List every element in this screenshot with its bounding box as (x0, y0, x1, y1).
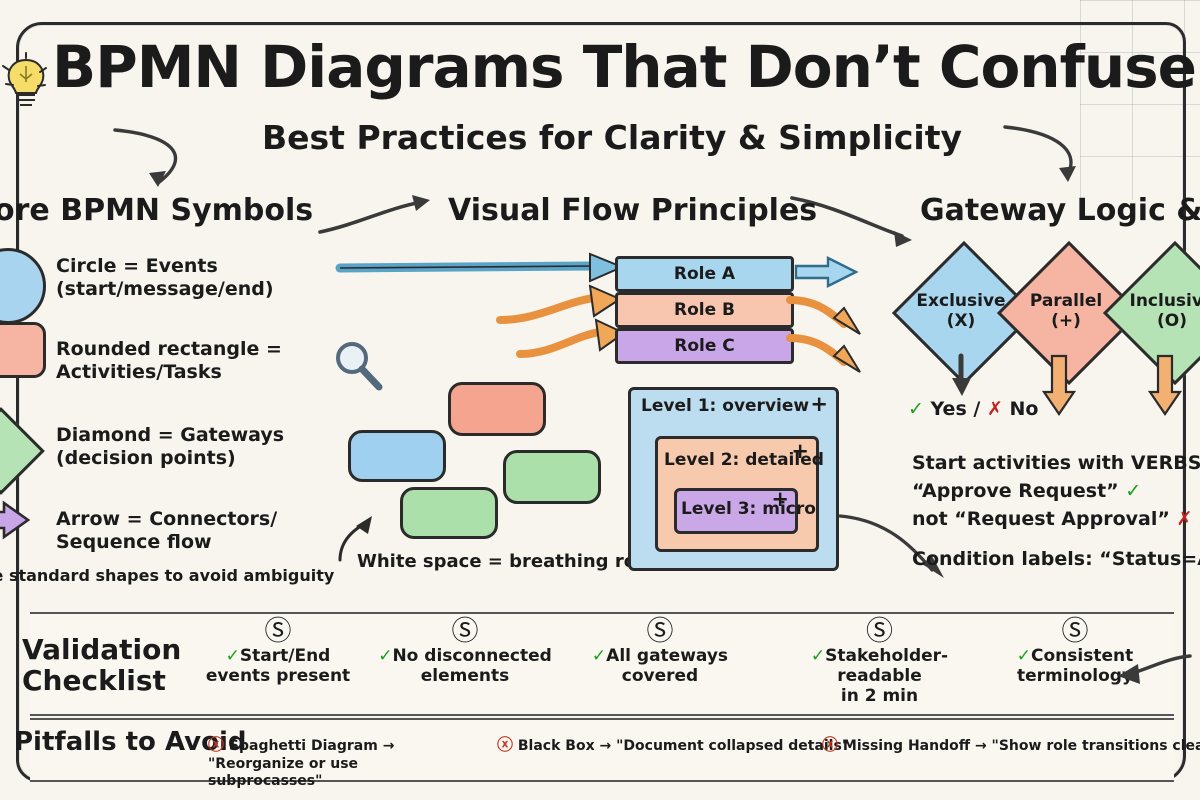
validation-item-5-line1: Consistent (1031, 646, 1133, 666)
validation-item-3-text: ✓All gateways covered (592, 646, 728, 686)
bad-cross-icon: ✗ (1176, 508, 1192, 530)
validation-item-2: Ⓢ ✓No disconnected elements (375, 618, 555, 686)
symbol-gateways-line1: Diamond = Gateways (56, 424, 284, 446)
validation-item-1-text: ✓Start/End events present (206, 646, 350, 686)
validation-item-4-line1: Stakeholder-readable (825, 646, 948, 686)
pitfall-3-name: Missing Handoff (843, 738, 970, 754)
validation-item-2-line2: elements (421, 666, 509, 686)
pitfall-item-3: ⓧ Missing Handoff → "Show role transitio… (822, 735, 1200, 756)
verbs-bad-example: not “Request Approval” ✗ (912, 506, 1192, 532)
gateway-inclusive-symbol: (O) (1157, 311, 1187, 331)
right-column-heading: Gateway Logic & Labels (920, 193, 1200, 228)
page-title: BPMN Diagrams That Don’t Confuse (52, 38, 1152, 96)
floating-task-salmon (448, 382, 546, 436)
symbol-label-connectors: Arrow = Connectors/ Sequence flow (56, 508, 277, 554)
x-circle-icon: ⓧ (822, 735, 838, 754)
validation-title: Validation Checklist (22, 634, 181, 697)
white-space-note: White space = breathing room (357, 551, 667, 572)
role-bar-c: Role C (615, 328, 794, 364)
floating-task-blue (348, 430, 446, 482)
verbs-heading: Start activities with VERBS: (912, 450, 1200, 476)
floating-task-green-2 (503, 450, 601, 504)
symbol-shape-rounded-rectangle (0, 322, 46, 378)
validation-item-4: Ⓢ ✓Stakeholder-readable in 2 min (772, 618, 987, 706)
gateway-parallel-name: Parallel (1030, 291, 1102, 311)
level-3-label: Level 3: micro (681, 499, 816, 519)
role-bar-c-label: Role C (674, 336, 735, 356)
left-column-heading: Core BPMN Symbols (0, 193, 313, 228)
gateway-parallel-symbol: (+) (1051, 311, 1081, 331)
check-mark-icon: ✓ (378, 646, 392, 666)
pitfall-item-2: ⓧ Black Box → "Document collapsed detail… (497, 735, 797, 756)
pitfall-3-fix: "Show role transitions clearly" (992, 738, 1200, 754)
check-circle-icon: Ⓢ (772, 618, 987, 645)
symbol-activities-line1: Rounded rectangle = (56, 338, 282, 360)
validation-item-1-line1: Start/End (240, 646, 330, 666)
validation-item-2-text: ✓No disconnected elements (378, 646, 552, 686)
verbs-bad-text: not “Request Approval” (912, 508, 1170, 530)
role-bar-a-label: Role A (674, 264, 735, 284)
symbol-connectors-line1: Arrow = Connectors/ (56, 508, 277, 530)
validation-title-line2: Checklist (22, 664, 166, 697)
role-bar-b: Role B (615, 292, 794, 328)
pitfall-1-arrow: → (383, 738, 395, 754)
gateway-inclusive-name: Inclusive (1130, 291, 1200, 311)
infographic-canvas: BPMN Diagrams That Don’t Confuse Best Pr… (0, 0, 1200, 800)
symbol-connectors-line2: Sequence flow (56, 531, 212, 553)
role-bar-a: Role A (615, 256, 794, 292)
level-2-label: Level 2: detailed (664, 450, 824, 470)
validation-item-5-text: ✓Consistent terminology (1017, 646, 1133, 686)
symbol-label-activities: Rounded rectangle = Activities/Tasks (56, 338, 282, 384)
pitfall-2-arrow: → (600, 738, 612, 754)
level-1-label: Level 1: overview (641, 396, 809, 416)
gateway-exclusive-name: Exclusive (916, 291, 1005, 311)
no-cross-icon: ✗ (987, 398, 1003, 420)
validation-item-1: Ⓢ ✓Start/End events present (188, 618, 368, 686)
symbol-gateways-line2: (decision points) (56, 447, 236, 469)
left-column-footnote: Use standard shapes to avoid ambiguity (0, 566, 334, 585)
gateway-inclusive-label: Inclusive (O) (1107, 292, 1200, 331)
verbs-good-text: “Approve Request” (912, 480, 1119, 502)
pitfall-1-fix: "Reorganize or use subprocasses" (208, 756, 358, 790)
no-label: No (1010, 398, 1039, 420)
validation-item-5-line2: terminology (1017, 666, 1133, 686)
x-circle-icon: ⓧ (497, 735, 513, 754)
page-subtitle: Best Practices for Clarity & Simplicity (262, 118, 1162, 157)
yes-check-icon: ✓ (908, 398, 924, 420)
check-mark-icon: ✓ (226, 646, 240, 666)
symbol-events-line1: Circle = Events (56, 255, 218, 277)
level-1-plus-marker: + (810, 394, 828, 415)
condition-labels-note: Condition labels: “Status=Approved” (912, 546, 1200, 572)
symbol-activities-line2: Activities/Tasks (56, 361, 222, 383)
check-circle-icon: Ⓢ (570, 618, 750, 645)
check-circle-icon: Ⓢ (375, 618, 555, 645)
check-circle-icon: Ⓢ (188, 618, 368, 645)
pitfall-3-arrow: → (975, 738, 987, 754)
pitfall-2-fix: "Document collapsed details" (616, 738, 849, 754)
symbol-label-events: Circle = Events (start/message/end) (56, 255, 274, 301)
validation-item-4-line2: in 2 min (841, 686, 918, 706)
validation-item-3-line1: All gateways (606, 646, 728, 666)
symbol-events-line2: (start/message/end) (56, 278, 274, 300)
pitfall-1-name: Spaghetti Diagram (229, 738, 378, 754)
check-mark-icon: ✓ (592, 646, 606, 666)
validation-item-2-line1: No disconnected (392, 646, 551, 666)
floating-task-green-1 (400, 487, 498, 539)
verbs-good-example: “Approve Request” ✓ (912, 478, 1141, 504)
validation-item-4-text: ✓Stakeholder-readable in 2 min (811, 646, 948, 706)
role-bar-b-label: Role B (674, 300, 735, 320)
pitfall-item-1: ⓧ Spaghetti Diagram → "Reorganize or use… (208, 735, 473, 791)
validation-item-3-line2: covered (622, 666, 698, 686)
check-circle-icon: Ⓢ (985, 618, 1165, 645)
validation-title-line1: Validation (22, 633, 181, 666)
validation-item-3: Ⓢ ✓All gateways covered (570, 618, 750, 686)
validation-item-5: Ⓢ ✓Consistent terminology (985, 618, 1165, 686)
gateway-exclusive-symbol: (X) (947, 311, 976, 331)
x-circle-icon: ⓧ (208, 735, 224, 754)
symbol-label-gateways: Diamond = Gateways (decision points) (56, 424, 284, 470)
validation-item-1-line2: events present (206, 666, 350, 686)
check-mark-icon: ✓ (811, 646, 825, 666)
center-column-heading: Visual Flow Principles (448, 193, 817, 228)
outcome-separator: / (973, 398, 980, 420)
gateway-outcome-row: ✓ Yes / ✗ No (908, 396, 1038, 422)
yes-label: Yes (931, 398, 967, 420)
pitfall-2-name: Black Box (518, 738, 595, 754)
good-check-icon: ✓ (1125, 480, 1141, 502)
check-mark-icon: ✓ (1017, 646, 1031, 666)
